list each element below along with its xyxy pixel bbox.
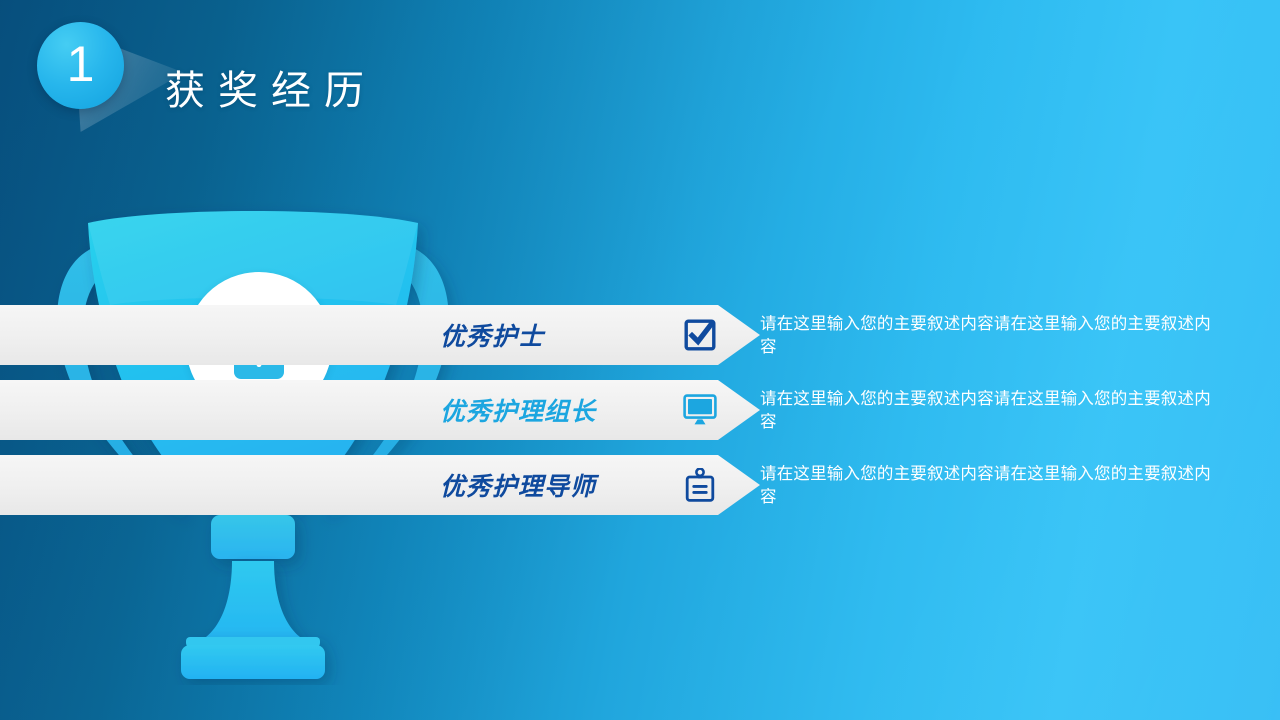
award-description: 请在这里输入您的主要叙述内容请在这里输入您的主要叙述内容 — [760, 388, 1212, 435]
award-rows-list: 优秀护士 请在这里输入您的主要叙述内容请在这里输入您的主要叙述内容 优秀护理组长 — [0, 0, 1280, 720]
award-description: 请在这里输入您的主要叙述内容请在这里输入您的主要叙述内容 — [760, 313, 1212, 360]
slide-canvas: 1 获奖经历 — [0, 0, 1280, 720]
award-banner-shape — [0, 305, 760, 365]
monitor-icon — [675, 380, 725, 440]
clipboard-icon — [675, 455, 725, 515]
award-title: 优秀护理组长 — [440, 380, 596, 440]
checkbox-checked-icon — [675, 305, 725, 365]
award-banner-shape — [0, 380, 760, 440]
award-banner-shape — [0, 455, 760, 515]
award-title: 优秀护士 — [440, 305, 544, 365]
award-description: 请在这里输入您的主要叙述内容请在这里输入您的主要叙述内容 — [760, 463, 1212, 510]
award-title: 优秀护理导师 — [440, 455, 596, 515]
